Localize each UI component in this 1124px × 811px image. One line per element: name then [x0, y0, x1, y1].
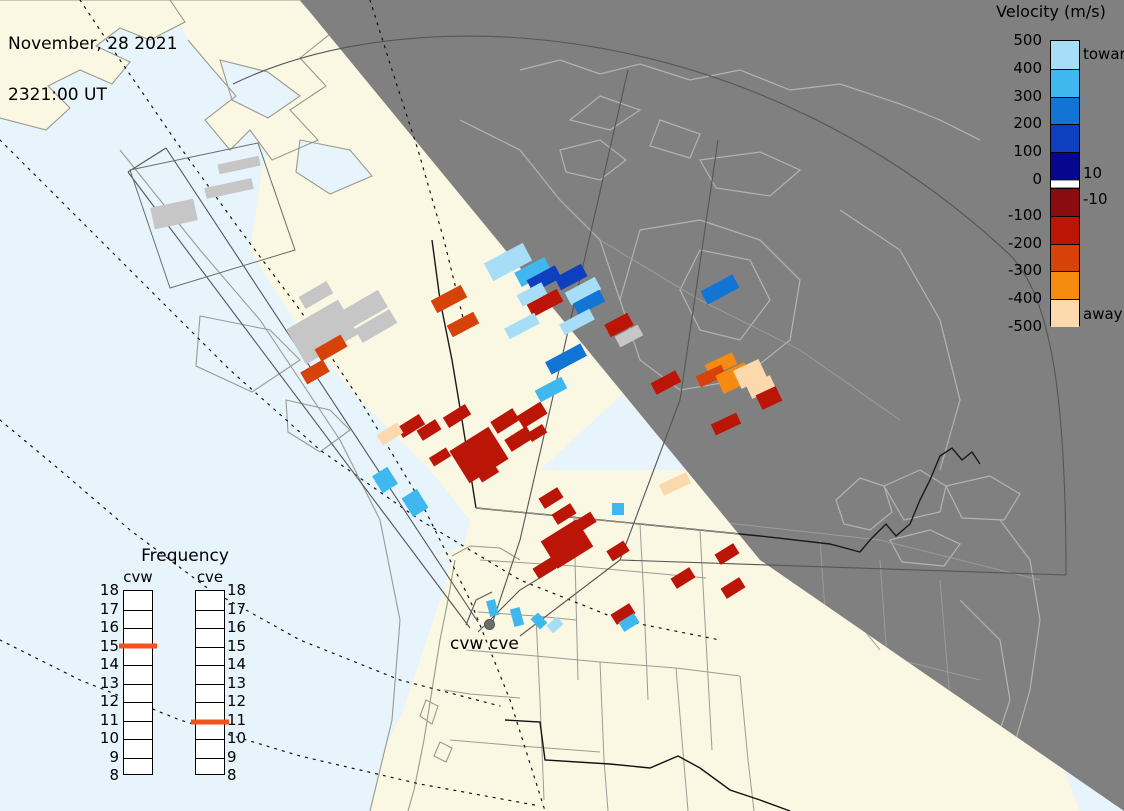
site-label-cve: cve: [489, 634, 519, 654]
gauge-segment: [196, 739, 224, 758]
colorbar-tick--500: -500: [1008, 317, 1042, 335]
velocity-cell: [486, 599, 499, 617]
gauge-tick-cvw-13: 13: [100, 674, 119, 692]
colorbar-tick--300: -300: [1008, 261, 1042, 279]
colorbar-band-0: [1051, 41, 1079, 69]
colorbar-band-1: [1051, 69, 1079, 97]
gauge-tick-cve-11: 11: [227, 711, 246, 729]
gauge-tick-cvw-12: 12: [100, 692, 119, 710]
date-text: November, 28 2021: [8, 36, 178, 53]
gauge-tick-cve-10: 10: [227, 729, 246, 747]
gauge-segment: [196, 610, 224, 629]
radar-site-marker: [484, 619, 495, 630]
velocity-cell: [510, 607, 524, 627]
time-text: 2321:00 UT: [8, 87, 178, 104]
velocity-cell: [443, 404, 471, 428]
gauge-label-cvw: cvw: [123, 568, 153, 586]
colorbar-tick-400: 400: [1013, 59, 1042, 77]
velocity-cell: [531, 612, 548, 629]
velocity-cell: [372, 467, 398, 493]
gauge-segment: [196, 647, 224, 666]
gauge-segment: [196, 591, 224, 610]
velocity-cell: [659, 472, 691, 496]
velocity-cell: [559, 309, 595, 336]
gauge-ticks-cve-right: 18171615141312111098: [227, 590, 253, 775]
colorbar-band-9: [1051, 271, 1079, 299]
colorbar-tick-100: 100: [1013, 142, 1042, 160]
colorbar-neutral-band: [1051, 180, 1079, 188]
velocity-cell: [651, 370, 682, 395]
velocity-cell: [606, 541, 629, 562]
gauge-tick-cve-14: 14: [227, 655, 246, 673]
gauge-tick-cvw-18: 18: [100, 581, 119, 599]
colorbar-tick-200: 200: [1013, 114, 1042, 132]
gauge-tick-cvw-10: 10: [100, 729, 119, 747]
colorbar-tick-500: 500: [1013, 31, 1042, 49]
ground-scatter-cell: [150, 199, 198, 230]
colorbar-gradient: [1050, 40, 1080, 326]
velocity-cell: [504, 313, 540, 340]
velocity-cell: [504, 426, 533, 452]
velocity-cell: [546, 617, 563, 634]
gauge-segment: [124, 702, 152, 721]
gauge-tick-cve-13: 13: [227, 674, 246, 692]
frequency-title: Frequency: [85, 546, 285, 566]
colorbar-band-4: [1051, 152, 1079, 180]
colorbar-band-7: [1051, 216, 1079, 244]
gauge-tick-cve-8: 8: [227, 766, 237, 784]
velocity-cell: [377, 423, 404, 446]
gauge-box-cve: [195, 590, 225, 775]
gauge-tick-cve-16: 16: [227, 618, 246, 636]
velocity-cell: [711, 413, 741, 436]
velocity-cell: [535, 377, 568, 403]
velocity-cell: [300, 359, 330, 384]
gauge-segment: [124, 665, 152, 684]
velocity-cell: [431, 285, 468, 313]
frequency-marker-cve: [191, 720, 229, 725]
gauge-segment: [124, 610, 152, 629]
gauge-tick-cve-17: 17: [227, 600, 246, 618]
timestamp: November, 28 2021 2321:00 UT: [8, 2, 178, 138]
site-label-cvw: cvw: [450, 634, 483, 654]
frequency-marker-cvw: [119, 643, 157, 648]
colorbar-band-6: [1051, 188, 1079, 216]
gauge-segment: [124, 647, 152, 666]
velocity-cell: [447, 312, 480, 338]
gauge-segment: [196, 628, 224, 647]
fan-plot-stage: November, 28 2021 2321:00 UT cvw cve Vel…: [0, 0, 1124, 811]
gauge-tick-cvw-9: 9: [109, 748, 119, 766]
colorbar-tick-0: 0: [1032, 170, 1042, 188]
velocity-cell: [490, 408, 519, 434]
colorbar-tick-300: 300: [1013, 87, 1042, 105]
colorbar-tick--200: -200: [1008, 234, 1042, 252]
colorbar-lower-threshold-label: -10: [1083, 190, 1108, 208]
velocity-cell: [402, 489, 429, 517]
colorbar-band-10: [1051, 299, 1079, 327]
velocity-cell: [429, 447, 451, 466]
velocity-cell: [516, 402, 547, 429]
velocity-cell: [720, 577, 745, 599]
colorbar-upper-threshold-label: 10: [1083, 164, 1102, 182]
velocity-colorbar: Velocity (m/s) 5004003002001000-100-200-…: [975, 0, 1124, 345]
colorbar-tick-labels: 5004003002001000-100-200-300-400-500: [975, 0, 1045, 345]
gauge-label-cve: cve: [195, 568, 225, 586]
frequency-panel: Frequency cvw 18171615141312111098 cve 1…: [85, 546, 305, 796]
velocity-cell: [714, 543, 739, 565]
gauge-segment: [124, 684, 152, 703]
gauge-tick-cve-12: 12: [227, 692, 246, 710]
gauge-segment: [196, 758, 224, 777]
velocity-cell: [538, 487, 563, 509]
gauge-segment: [196, 684, 224, 703]
gauge-tick-cvw-17: 17: [100, 600, 119, 618]
velocity-cell: [670, 567, 695, 589]
ground-scatter-cell: [204, 178, 253, 199]
colorbar-toward-label: toward: [1083, 45, 1124, 63]
gauge-tick-cve-9: 9: [227, 748, 237, 766]
gauge-tick-cvw-14: 14: [100, 655, 119, 673]
gauge-tick-cve-15: 15: [227, 637, 246, 655]
gauge-tick-cvw-11: 11: [100, 711, 119, 729]
gauge-ticks-cvw-left: 18171615141312111098: [93, 590, 119, 775]
gauge-segment: [196, 665, 224, 684]
colorbar-end-labels: toward10-10away: [1083, 0, 1124, 345]
ground-scatter-cell: [299, 281, 334, 309]
gauge-segment: [124, 591, 152, 610]
gauge-box-cvw: [123, 590, 153, 775]
gauge-tick-cve-18: 18: [227, 581, 246, 599]
gauge-tick-cvw-16: 16: [100, 618, 119, 636]
colorbar-tick--400: -400: [1008, 289, 1042, 307]
gauge-segment: [124, 758, 152, 777]
gauge-segment: [124, 739, 152, 758]
colorbar-away-label: away: [1083, 305, 1123, 323]
colorbar-band-3: [1051, 124, 1079, 152]
velocity-cell: [612, 503, 624, 515]
gauge-segment: [124, 721, 152, 740]
gauge-tick-cvw-15: 15: [100, 637, 119, 655]
ground-scatter-cell: [217, 156, 260, 175]
colorbar-band-2: [1051, 97, 1079, 125]
velocity-cell: [701, 274, 740, 304]
colorbar-band-8: [1051, 244, 1079, 272]
gauge-segment: [196, 702, 224, 721]
gauge-tick-cvw-8: 8: [109, 766, 119, 784]
colorbar-tick--100: -100: [1008, 206, 1042, 224]
velocity-cell: [545, 343, 587, 374]
